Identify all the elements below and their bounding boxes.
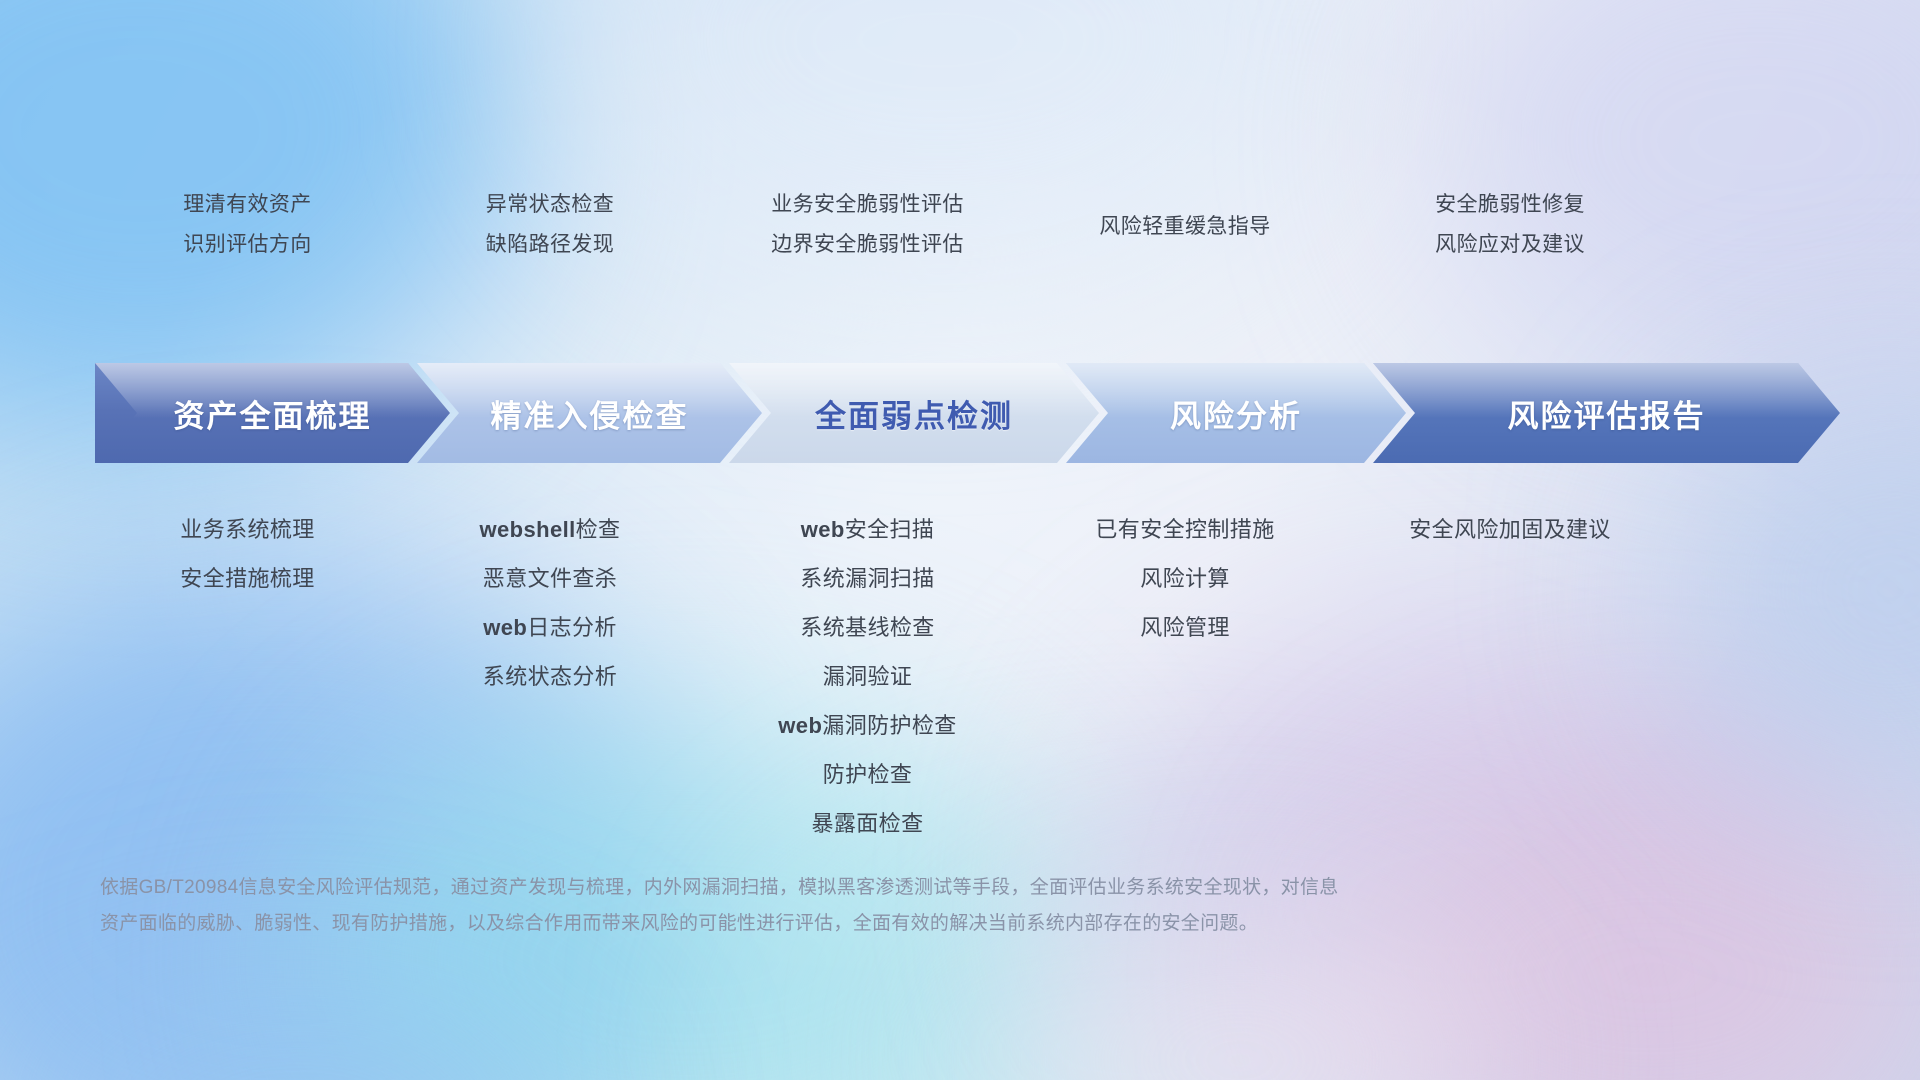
chevron-label: 全面弱点检测	[729, 391, 1099, 436]
top-note: 缺陷路径发现	[486, 225, 614, 265]
detail-list-intrusion-check: webshell检查恶意文件查杀web日志分析系统状态分析	[400, 505, 700, 701]
top-note: 安全脆弱性修复	[1435, 185, 1585, 225]
footer-line: 资产面临的威胁、脆弱性、现有防护措施，以及综合作用而带来风险的可能性进行评估，全…	[100, 906, 1660, 942]
footer-description: 依据GB/T20984信息安全风险评估规范，通过资产发现与梳理，内外网漏洞扫描，…	[100, 870, 1660, 942]
chevron-label: 精准入侵检查	[417, 391, 762, 436]
detail-list-assessment-report: 安全风险加固及建议	[1335, 505, 1685, 554]
top-notes-assessment-report: 安全脆弱性修复 风险应对及建议	[1335, 185, 1685, 280]
chevron-step-assessment-report[interactable]: 风险评估报告	[1373, 363, 1840, 463]
top-notes-row: 理清有效资产 识别评估方向 异常状态检查 缺陷路径发现 业务安全脆弱性评估 边界…	[95, 185, 1840, 280]
top-note: 风险应对及建议	[1435, 225, 1585, 265]
chevron-label: 资产全面梳理	[95, 391, 450, 436]
top-note: 异常状态检查	[486, 185, 614, 225]
process-diagram: 理清有效资产 识别评估方向 异常状态检查 缺陷路径发现 业务安全脆弱性评估 边界…	[0, 0, 1920, 1080]
footer-line: 依据GB/T20984信息安全风险评估规范，通过资产发现与梳理，内外网漏洞扫描，…	[100, 870, 1660, 906]
chevron-label: 风险分析	[1066, 391, 1406, 436]
chevron-step-intrusion-check[interactable]: 精准入侵检查	[417, 363, 762, 463]
detail-list-item: 系统漏洞扫描	[800, 554, 934, 603]
chevron-step-weakness-detection[interactable]: 全面弱点检测	[729, 363, 1099, 463]
top-note: 识别评估方向	[183, 225, 311, 265]
top-notes-asset-inventory: 理清有效资产 识别评估方向	[95, 185, 400, 280]
detail-list-item: 恶意文件查杀	[483, 554, 617, 603]
detail-list-item: 安全措施梳理	[180, 554, 314, 603]
detail-list-item: 系统状态分析	[483, 652, 617, 701]
top-note: 业务安全脆弱性评估	[771, 185, 964, 225]
detail-item-keyword: web	[801, 517, 845, 542]
detail-list-item: 风险管理	[1140, 603, 1230, 652]
top-notes-risk-analysis: 风险轻重缓急指导	[1035, 185, 1335, 280]
chevron-step-asset-inventory[interactable]: 资产全面梳理	[95, 363, 450, 463]
detail-list-item: 漏洞验证	[823, 652, 913, 701]
detail-item-keyword: web	[778, 713, 822, 738]
detail-list-risk-analysis: 已有安全控制措施风险计算风险管理	[1035, 505, 1335, 652]
detail-list-item: 系统基线检查	[800, 603, 934, 652]
chevron-step-risk-analysis[interactable]: 风险分析	[1066, 363, 1406, 463]
top-note: 风险轻重缓急指导	[1099, 207, 1270, 247]
detail-list-weakness-detection: web安全扫描系统漏洞扫描系统基线检查漏洞验证web漏洞防护检查防护检查暴露面检…	[700, 505, 1035, 848]
detail-lists-row: 业务系统梳理安全措施梳理 webshell检查恶意文件查杀web日志分析系统状态…	[95, 505, 1840, 848]
detail-list-item: 暴露面检查	[811, 799, 923, 848]
detail-item-keyword: web	[483, 615, 527, 640]
chevron-label: 风险评估报告	[1373, 391, 1840, 436]
top-note: 理清有效资产	[183, 185, 311, 225]
top-note: 边界安全脆弱性评估	[771, 225, 964, 265]
detail-list-item: web安全扫描	[801, 505, 935, 554]
detail-list-item: 安全风险加固及建议	[1409, 505, 1611, 554]
detail-list-item: web日志分析	[483, 603, 617, 652]
process-chevron-banner: 资产全面梳理 精准入侵检查 全面弱点检测 风险分析 风险评估报告	[95, 363, 1840, 463]
detail-list-item: webshell检查	[480, 505, 621, 554]
detail-list-item: 业务系统梳理	[180, 505, 314, 554]
detail-list-asset-inventory: 业务系统梳理安全措施梳理	[95, 505, 400, 603]
detail-item-keyword: webshell	[480, 517, 576, 542]
top-notes-intrusion-check: 异常状态检查 缺陷路径发现	[400, 185, 700, 280]
top-notes-weakness-detection: 业务安全脆弱性评估 边界安全脆弱性评估	[700, 185, 1035, 280]
detail-list-item: 风险计算	[1140, 554, 1230, 603]
detail-list-item: 已有安全控制措施	[1095, 505, 1274, 554]
detail-list-item: 防护检查	[823, 750, 913, 799]
detail-list-item: web漏洞防护检查	[778, 701, 956, 750]
